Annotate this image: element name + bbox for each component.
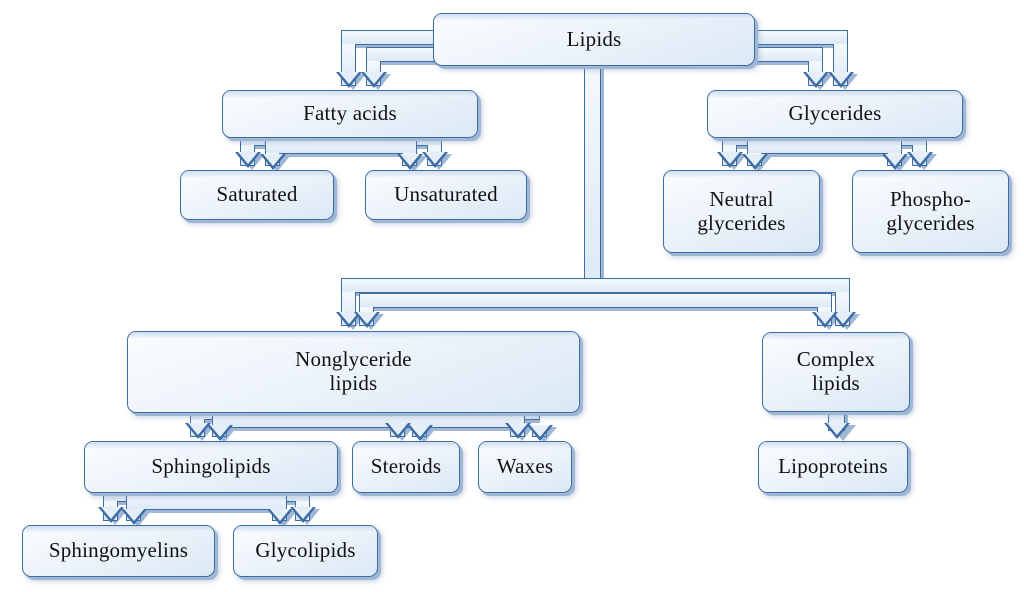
node-neutral-glycerides[interactable]: Neutral glycerides — [663, 170, 820, 253]
node-nonglyceride-lipids[interactable]: Nonglyceride lipids — [127, 331, 580, 413]
arrowhead-lipoproteins — [824, 423, 850, 439]
node-neutral-glycerides-label-line2: glycerides — [691, 212, 791, 236]
node-phospho-glycerides-label-line2: glycerides — [880, 212, 980, 236]
node-fatty-acids-label: Fatty acids — [297, 102, 403, 126]
arrowhead-saturated-a — [235, 152, 261, 168]
connector-nonglyceride-bus-inner — [212, 413, 525, 428]
node-glycerides-label: Glycerides — [783, 102, 888, 126]
node-complex-lipids[interactable]: Complex lipids — [762, 332, 910, 412]
node-sphingomyelins-label: Sphingomyelins — [43, 539, 194, 563]
connector-lipids-glycerides-outer-horizontal — [750, 30, 848, 45]
node-saturated-label: Saturated — [210, 183, 303, 207]
node-lipoproteins-label: Lipoproteins — [772, 455, 894, 479]
arrowhead-fattyacids-outer — [336, 72, 362, 88]
arrowhead-complex-b — [812, 312, 838, 328]
node-waxes-label: Waxes — [491, 455, 559, 479]
connector-lipids-fattyacids-outer-horizontal — [341, 30, 439, 45]
arrowhead-saturated-b — [260, 154, 286, 170]
arrowhead-glycolipids-a — [290, 507, 316, 523]
node-lipids[interactable]: Lipids — [433, 13, 755, 66]
node-complex-lipids-label-line2: lipids — [806, 372, 866, 396]
node-glycolipids-label: Glycolipids — [249, 539, 361, 563]
node-steroids-label: Steroids — [365, 455, 447, 479]
node-neutral-glycerides-label-line1: Neutral — [703, 188, 779, 212]
arrowhead-phospho-b — [882, 154, 908, 170]
node-complex-lipids-label-line1: Complex — [791, 348, 881, 372]
arrowhead-sphingomyelins-b — [121, 509, 147, 525]
arrowhead-glycolipids-b — [267, 509, 293, 525]
node-waxes[interactable]: Waxes — [478, 441, 572, 493]
node-sphingolipids-label: Sphingolipids — [145, 455, 276, 479]
node-glycerides[interactable]: Glycerides — [707, 90, 963, 138]
node-glycolipids[interactable]: Glycolipids — [233, 525, 378, 577]
arrowhead-neutral-b — [742, 154, 768, 170]
arrowhead-nonglyceride-b — [354, 312, 380, 328]
connector-fattyacids-bus-inner — [265, 139, 417, 154]
arrowhead-phospho-a — [907, 152, 933, 168]
arrowhead-glycerides-inner — [803, 72, 829, 88]
node-sphingolipids[interactable]: Sphingolipids — [84, 441, 338, 493]
arrowhead-glycerides-outer — [828, 72, 854, 88]
node-nonglyceride-lipids-label-line2: lipids — [324, 372, 384, 396]
lipid-classification-diagram: Lipids Fatty acids Glycerides Saturated … — [0, 0, 1024, 592]
connector-sphingolipids-bus-inner — [126, 495, 287, 510]
arrowhead-steroids-b — [407, 425, 433, 441]
node-lipids-label: Lipids — [561, 28, 628, 52]
node-nonglyceride-lipids-label-line1: Nonglyceride — [289, 348, 418, 372]
arrowhead-unsaturated-a — [422, 152, 448, 168]
arrowhead-sphingolipids-b — [207, 425, 233, 441]
connector-glycerides-bus-inner — [747, 139, 902, 154]
node-phospho-glycerides[interactable]: Phospho- glycerides — [852, 170, 1009, 253]
node-fatty-acids[interactable]: Fatty acids — [222, 90, 478, 138]
node-unsaturated-label: Unsaturated — [388, 183, 504, 207]
arrowhead-unsaturated-b — [397, 154, 423, 170]
node-unsaturated[interactable]: Unsaturated — [365, 170, 527, 220]
node-phospho-glycerides-label-line1: Phospho- — [884, 188, 977, 212]
connector-lipids-fattyacids-inner-horizontal — [366, 47, 441, 62]
arrowhead-neutral-a — [717, 152, 743, 168]
node-lipoproteins[interactable]: Lipoproteins — [758, 441, 908, 493]
connector-lower-bus-inner — [359, 293, 832, 308]
node-steroids[interactable]: Steroids — [352, 441, 460, 493]
arrowhead-fattyacids-inner — [361, 72, 387, 88]
connector-lower-bus-outer — [341, 278, 850, 293]
connector-lipids-trunk — [584, 60, 601, 288]
node-saturated[interactable]: Saturated — [180, 170, 334, 220]
arrowhead-waxes-b — [527, 425, 553, 441]
connector-lipids-glycerides-inner-horizontal — [748, 47, 823, 62]
node-sphingomyelins[interactable]: Sphingomyelins — [22, 525, 215, 577]
